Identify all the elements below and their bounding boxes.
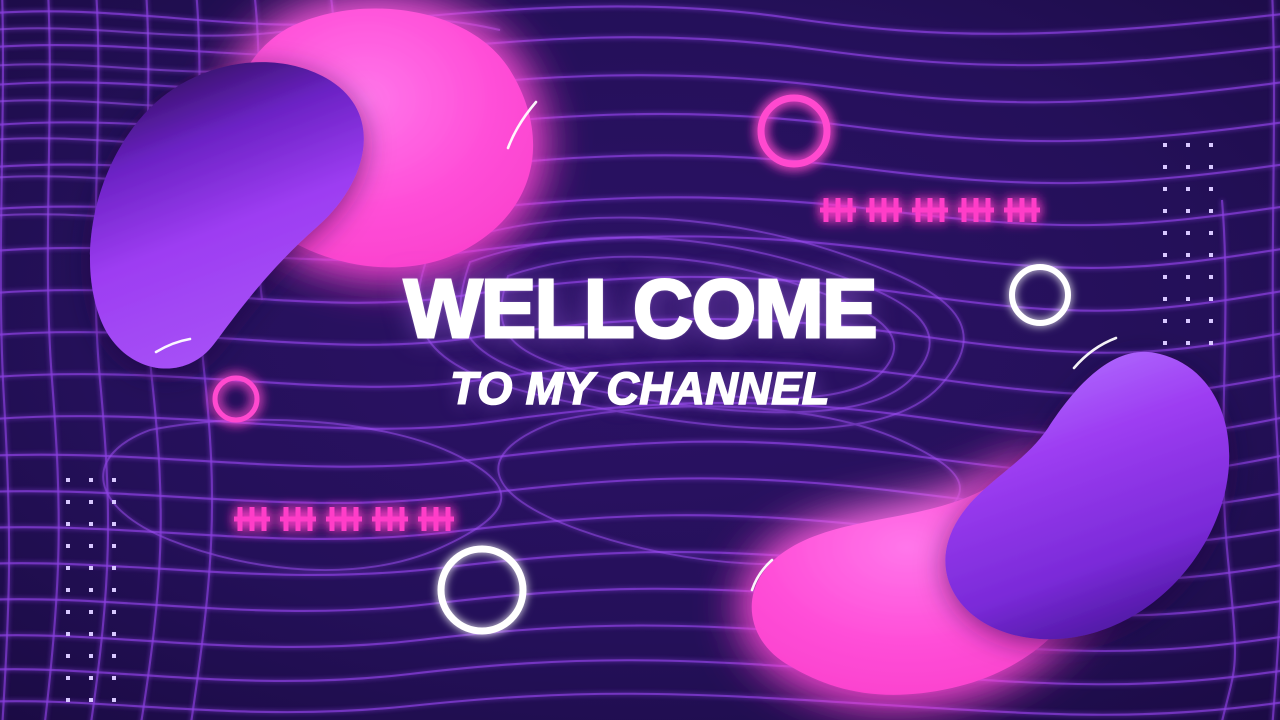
banner-canvas: WELLCOME TO MY CHANNEL (0, 0, 1280, 720)
arc-highlight-bottom (752, 560, 772, 590)
arc-highlight-top (508, 102, 536, 148)
arc-highlight-right (1074, 338, 1116, 368)
circle-white-right (1012, 267, 1068, 323)
tally-marks-top-right (820, 198, 1040, 222)
circle-pink-top (761, 98, 827, 164)
dot-grid-right (1163, 143, 1213, 345)
dot-grid-left (66, 478, 116, 702)
circle-pink-left (215, 378, 257, 420)
arc-highlight-left (156, 339, 190, 352)
circle-white-bottom (441, 549, 523, 631)
decoration-layer (0, 0, 1280, 720)
tally-marks-bottom-left (234, 507, 454, 531)
